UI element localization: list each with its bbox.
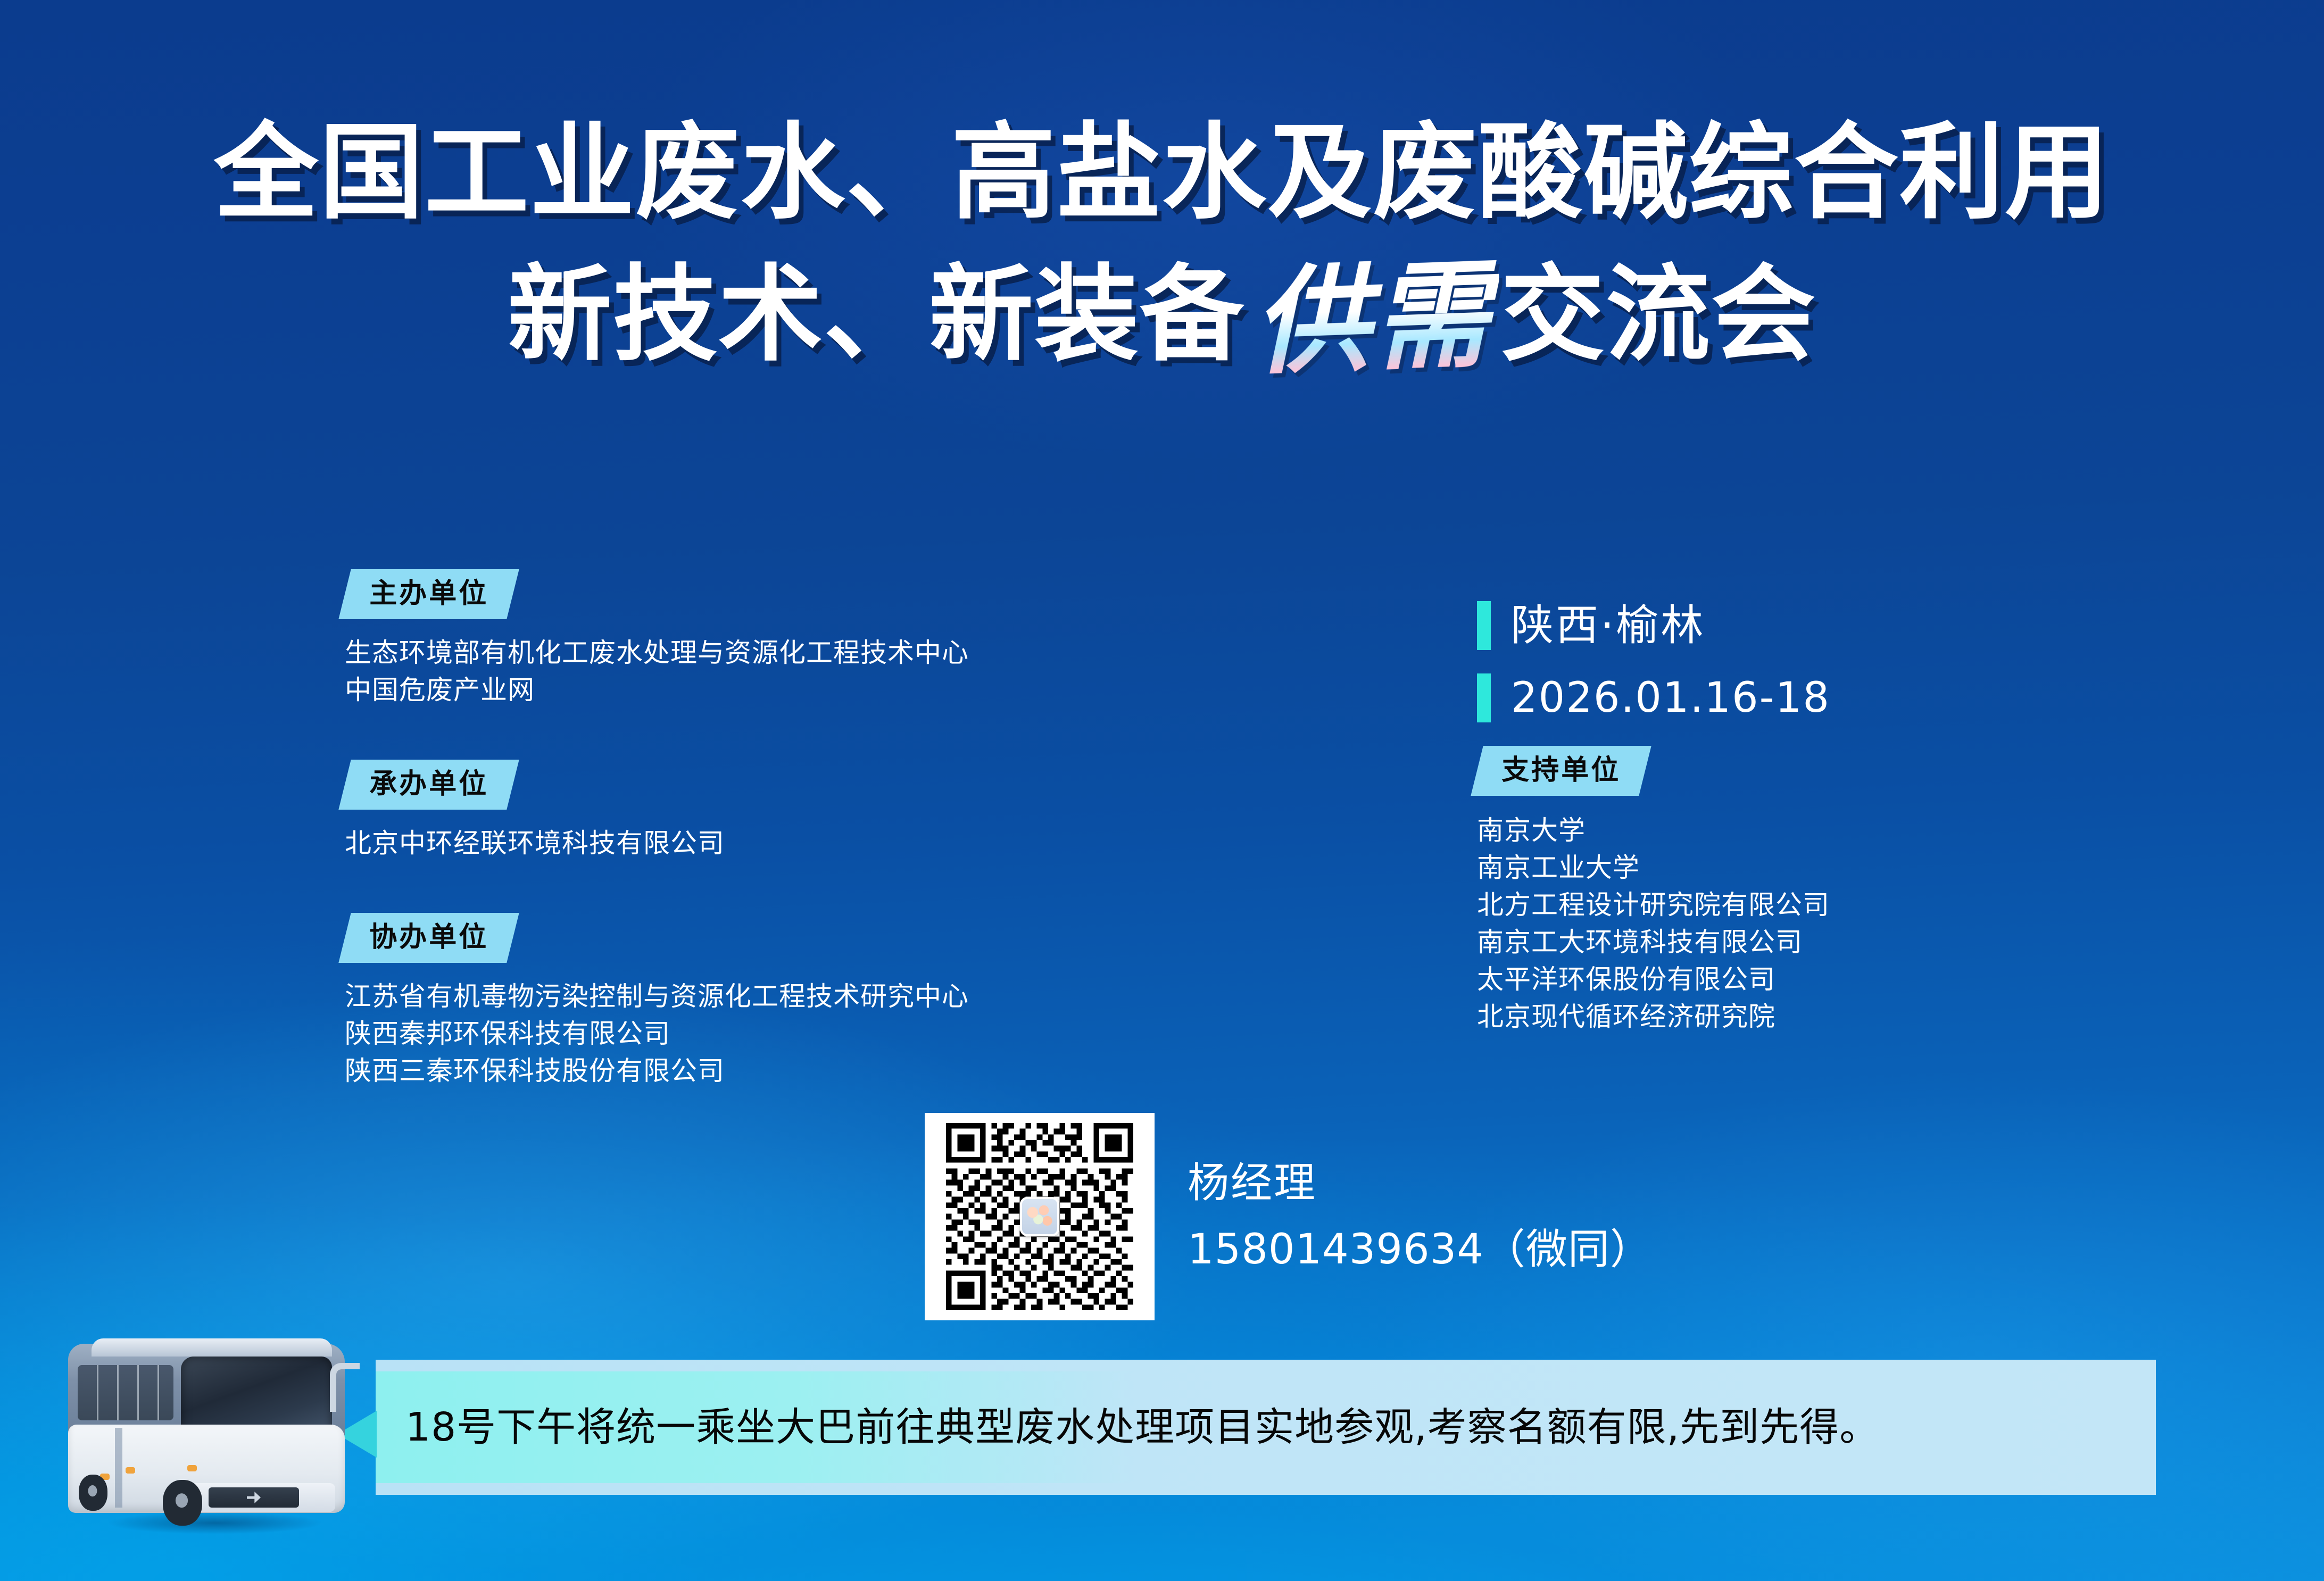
support-list: 南京大学 南京工业大学 北方工程设计研究院有限公司 南京工大环境科技有限公司 太… xyxy=(1477,812,2232,1035)
title-line-1: 全国工业废水、高盐水及废酸碱综合利用 xyxy=(0,113,2324,234)
list-item: 南京工大环境科技有限公司 xyxy=(1477,923,2232,961)
right-column: 陕西·榆林 2026.01.16-18 支持单位 南京大学 南京工业大学 北方工… xyxy=(1477,601,2232,1035)
contact-phone: 15801439634（微同） xyxy=(1188,1224,1652,1276)
organizer-list: 生态环境部有机化工废水处理与资源化工程技术中心 中国危废产业网 xyxy=(345,634,1356,709)
title-line-2-part-a: 新技术、新装备 xyxy=(508,254,1245,376)
list-item: 北京现代循环经济研究院 xyxy=(1477,998,2232,1035)
title-line-2: 新技术、新装备供需交流会 xyxy=(0,243,2324,378)
bus-lamp xyxy=(126,1467,135,1474)
organizer-block: 主办单位 生态环境部有机化工废水处理与资源化工程技术中心 中国危废产业网 xyxy=(345,569,1356,709)
bus-roof xyxy=(92,1338,332,1357)
date-accent-bar xyxy=(1477,673,1491,722)
list-item: 南京大学 xyxy=(1477,812,2232,849)
co-organizer-chip: 协办单位 xyxy=(338,913,519,963)
title-line-2-part-c: 交流会 xyxy=(1500,254,1816,376)
list-item: 生态环境部有机化工废水处理与资源化工程技术中心 xyxy=(345,634,1356,671)
undertaker-block: 承办单位 北京中环经联环境科技有限公司 xyxy=(345,760,1356,862)
contact-name: 杨经理 xyxy=(1188,1158,1652,1210)
undertaker-chip: 承办单位 xyxy=(338,760,519,810)
list-item: 南京工业大学 xyxy=(1477,849,2232,886)
organizer-chip-label: 主办单位 xyxy=(369,580,488,608)
wechat-qr-code[interactable] xyxy=(925,1113,1155,1320)
list-item: 江苏省有机毒物污染控制与资源化工程技术研究中心 xyxy=(345,978,1356,1015)
bus-illustration xyxy=(40,1313,392,1547)
undertaker-chip-label: 承办单位 xyxy=(369,770,488,798)
co-organizer-block: 协办单位 江苏省有机毒物污染控制与资源化工程技术研究中心 陕西秦邦环保科技有限公… xyxy=(345,913,1356,1089)
co-organizer-list: 江苏省有机毒物污染控制与资源化工程技术研究中心 陕西秦邦环保科技有限公司 陕西三… xyxy=(345,978,1356,1089)
bus-front-wheel xyxy=(163,1480,202,1526)
list-item: 北方工程设计研究院有限公司 xyxy=(1477,886,2232,923)
support-chip-wrap: 支持单位 xyxy=(1477,746,2232,796)
title-supply-demand-calligraphy: 供需 xyxy=(1243,247,1503,390)
bus-side-windows xyxy=(78,1365,173,1420)
bus-mirror xyxy=(330,1363,360,1412)
bus-lamp xyxy=(187,1465,197,1471)
support-chip-label: 支持单位 xyxy=(1501,756,1621,784)
support-chip: 支持单位 xyxy=(1471,746,1651,796)
left-column: 主办单位 生态环境部有机化工废水处理与资源化工程技术中心 中国危废产业网 承办单… xyxy=(345,569,1356,1089)
bus-body xyxy=(68,1344,345,1513)
date-row: 2026.01.16-18 xyxy=(1477,673,2232,722)
banner-note-text: 18号下午将统一乘坐大巴前往典型废水处理项目实地参观,考察名额有限,先到先得。 xyxy=(376,1408,1879,1447)
contact-block: 杨经理 15801439634（微同） xyxy=(925,1113,1652,1320)
qr-center-avatar-icon xyxy=(1020,1197,1059,1236)
list-item: 陕西三秦环保科技股份有限公司 xyxy=(345,1052,1356,1089)
organizer-chip: 主办单位 xyxy=(338,569,519,619)
poster-title: 全国工业废水、高盐水及废酸碱综合利用 新技术、新装备供需交流会 xyxy=(0,113,2324,378)
spacer xyxy=(345,862,1356,913)
list-item: 陕西秦邦环保科技有限公司 xyxy=(345,1015,1356,1052)
bus-rear-wheel xyxy=(79,1475,107,1511)
location-accent-bar xyxy=(1477,601,1491,650)
list-item: 太平洋环保股份有限公司 xyxy=(1477,961,2232,998)
bottom-banner: 18号下午将统一乘坐大巴前往典型废水处理项目实地参观,考察名额有限,先到先得。 xyxy=(376,1360,2156,1495)
location-row: 陕西·榆林 xyxy=(1477,601,2232,650)
list-item: 中国危废产业网 xyxy=(345,671,1356,709)
poster-canvas: 全国工业废水、高盐水及废酸碱综合利用 新技术、新装备供需交流会 主办单位 生态环… xyxy=(0,0,2324,1581)
contact-text: 杨经理 15801439634（微同） xyxy=(1188,1158,1652,1276)
bus-door xyxy=(115,1428,122,1508)
undertaker-list: 北京中环经联环境科技有限公司 xyxy=(345,825,1356,862)
co-organizer-chip-label: 协办单位 xyxy=(369,923,488,951)
date-text: 2026.01.16-18 xyxy=(1511,677,1830,719)
location-text: 陕西·榆林 xyxy=(1511,604,1705,647)
spacer xyxy=(345,709,1356,760)
list-item: 北京中环经联环境科技有限公司 xyxy=(345,825,1356,862)
